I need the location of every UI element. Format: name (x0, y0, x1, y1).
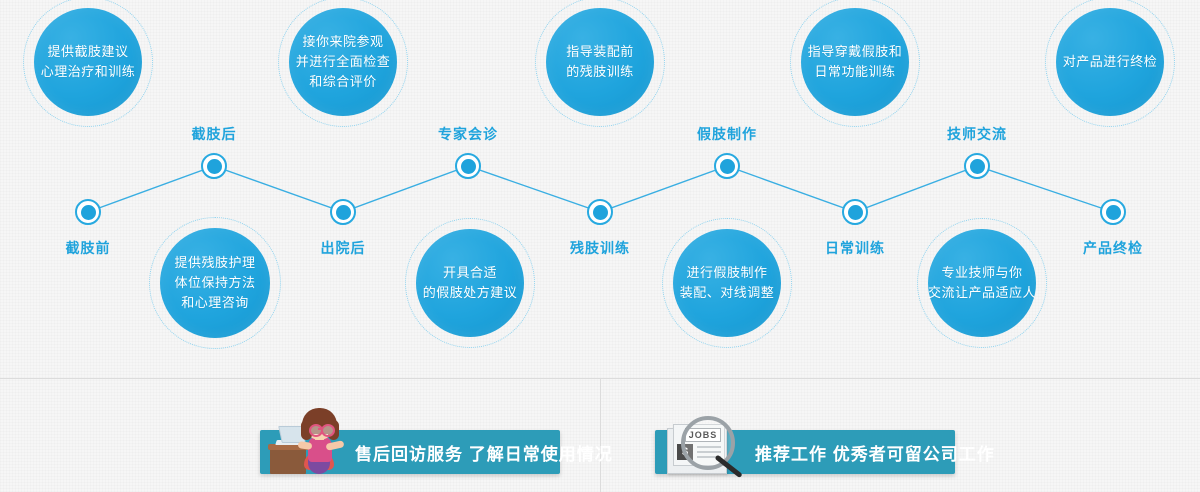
timeline-label-pre-amputation: 截肢前 (48, 238, 128, 258)
timeline-label-final-inspection: 产品终检 (1066, 238, 1160, 258)
node-dot (848, 205, 863, 220)
node-dot (970, 159, 985, 174)
bubble-amputation-advice[interactable]: 提供截肢建议 心理治疗和训练 (23, 0, 153, 127)
node-dot (593, 205, 608, 220)
banner-job-referral[interactable]: JOBS $ 推荐工作 优秀者可留公司工作 (655, 430, 955, 474)
timeline-node-post-amputation[interactable] (201, 153, 227, 179)
timeline-node-prosthesis-making[interactable] (714, 153, 740, 179)
timeline-node-stump-training[interactable] (587, 199, 613, 225)
timeline-node-technician-exchange[interactable] (964, 153, 990, 179)
timeline-label-daily-training: 日常训练 (808, 238, 902, 258)
node-dot (461, 159, 476, 174)
timeline-label-expert-consultation: 专家会诊 (421, 124, 515, 144)
bubble-prosthesis-making[interactable]: 进行假肢制作 装配、对线调整 (662, 218, 792, 348)
bubble-hospital-visit[interactable]: 接你来院参观 并进行全面检查 和综合评价 (278, 0, 408, 127)
node-dot (81, 205, 96, 220)
bubble-text: 指导装配前 的残肢训练 (556, 42, 644, 82)
node-dot (336, 205, 351, 220)
bubble-technician-exchange[interactable]: 专业技师与你 交流让产品适应人 (917, 218, 1047, 348)
timeline-label-technician-exchange: 技师交流 (930, 124, 1024, 144)
bubble-stump-care[interactable]: 提供残肢护理 体位保持方法 和心理咨询 (149, 217, 281, 349)
banner-job-referral-text: 推荐工作 优秀者可留公司工作 (755, 440, 995, 465)
timeline-label-prosthesis-making: 假肢制作 (680, 124, 774, 144)
magnifier-over-jobs-newspaper-icon: JOBS $ (659, 406, 755, 482)
timeline-node-expert-consultation[interactable] (455, 153, 481, 179)
banner-after-sales[interactable]: 售后回访服务 了解日常使用情况 (260, 430, 560, 474)
timeline-label-stump-training: 残肢训练 (553, 238, 647, 258)
bubble-final-inspection[interactable]: 对产品进行终检 (1045, 0, 1175, 127)
node-dot (1106, 205, 1121, 220)
bubble-text: 进行假肢制作 装配、对线调整 (670, 263, 785, 303)
bubble-text: 指导穿戴假肢和 日常功能训练 (798, 42, 913, 82)
bubble-text: 接你来院参观 并进行全面检查 和综合评价 (286, 32, 401, 92)
bubble-pre-fitting-training[interactable]: 指导装配前 的残肢训练 (535, 0, 665, 127)
node-dot (720, 159, 735, 174)
timeline-node-final-inspection[interactable] (1100, 199, 1126, 225)
bubble-wearing-guidance[interactable]: 指导穿戴假肢和 日常功能训练 (790, 0, 920, 127)
timeline-node-daily-training[interactable] (842, 199, 868, 225)
woman-at-desk-with-laptop-icon (268, 408, 352, 480)
bubble-text: 专业技师与你 交流让产品适应人 (918, 263, 1046, 303)
timeline-node-post-discharge[interactable] (330, 199, 356, 225)
bubble-text: 提供残肢护理 体位保持方法 和心理咨询 (164, 253, 265, 313)
bubble-text: 开具合适 的假肢处方建议 (413, 263, 528, 303)
timeline-label-post-discharge: 出院后 (303, 238, 383, 258)
infographic-canvas: 提供截肢建议 心理治疗和训练 提供残肢护理 体位保持方法 和心理咨询 接你来院参… (0, 0, 1200, 492)
bubble-prescription[interactable]: 开具合适 的假肢处方建议 (405, 218, 535, 348)
bubble-text: 对产品进行终检 (1053, 52, 1168, 72)
timeline-node-pre-amputation[interactable] (75, 199, 101, 225)
timeline-label-post-amputation: 截肢后 (174, 124, 254, 144)
banner-after-sales-text: 售后回访服务 了解日常使用情况 (355, 440, 613, 465)
node-dot (207, 159, 222, 174)
bubble-text: 提供截肢建议 心理治疗和训练 (31, 42, 146, 82)
